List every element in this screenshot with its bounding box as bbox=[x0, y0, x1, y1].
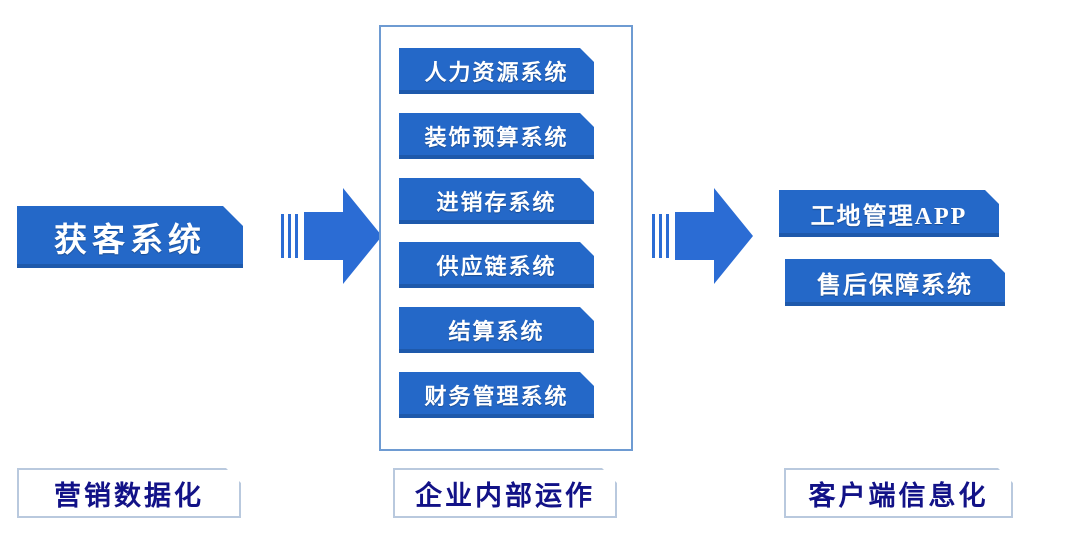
arrow-tail-stripes bbox=[281, 214, 298, 258]
node-hr-system[interactable]: 人力资源系统 bbox=[399, 48, 594, 94]
node-label: 人力资源系统 bbox=[424, 55, 568, 87]
node-label: 进销存系统 bbox=[436, 185, 556, 217]
caption-label: 营销数据化 bbox=[54, 474, 204, 513]
node-supply-chain-system[interactable]: 供应链系统 bbox=[399, 242, 594, 288]
arrow-body bbox=[304, 188, 382, 284]
chip-shadow bbox=[399, 155, 594, 159]
node-decoration-budget-system[interactable]: 装饰预算系统 bbox=[399, 113, 594, 159]
node-after-sales-system[interactable]: 售后保障系统 bbox=[785, 259, 1005, 306]
chip-shadow bbox=[17, 264, 243, 268]
chip-shadow bbox=[399, 220, 594, 224]
node-inventory-system[interactable]: 进销存系统 bbox=[399, 178, 594, 224]
chip-shadow bbox=[399, 90, 594, 94]
caption-client-informatization: 客户端信息化 bbox=[784, 468, 1013, 518]
node-site-management-app[interactable]: 工地管理APP bbox=[779, 190, 999, 237]
node-label: 供应链系统 bbox=[436, 249, 556, 281]
chip-shadow bbox=[399, 414, 594, 418]
node-label: 工地管理APP bbox=[811, 196, 968, 231]
node-label: 获客系统 bbox=[54, 213, 206, 261]
node-label: 装饰预算系统 bbox=[424, 120, 568, 152]
caption-label: 客户端信息化 bbox=[809, 474, 989, 513]
chip-shadow bbox=[399, 349, 594, 353]
node-finance-system[interactable]: 财务管理系统 bbox=[399, 372, 594, 418]
node-settlement-system[interactable]: 结算系统 bbox=[399, 307, 594, 353]
right-arrow-icon bbox=[652, 188, 756, 284]
chip-shadow bbox=[779, 233, 999, 237]
node-acquisition-system[interactable]: 获客系统 bbox=[17, 206, 243, 268]
chip-shadow bbox=[399, 284, 594, 288]
node-label: 售后保障系统 bbox=[817, 265, 973, 300]
diagram-canvas: 获客系统 人力资源系统 装饰预算系统 进销存系统 供应链系统 结算系统 财务管理… bbox=[0, 0, 1080, 550]
node-label: 财务管理系统 bbox=[424, 379, 568, 411]
node-label: 结算系统 bbox=[448, 314, 544, 346]
caption-marketing-datafication: 营销数据化 bbox=[17, 468, 241, 518]
arrow-tail-stripes bbox=[652, 214, 669, 258]
right-arrow-icon bbox=[281, 188, 385, 284]
chip-shadow bbox=[785, 302, 1005, 306]
caption-internal-operations: 企业内部运作 bbox=[393, 468, 617, 518]
caption-label: 企业内部运作 bbox=[415, 474, 595, 513]
arrow-body bbox=[675, 188, 753, 284]
